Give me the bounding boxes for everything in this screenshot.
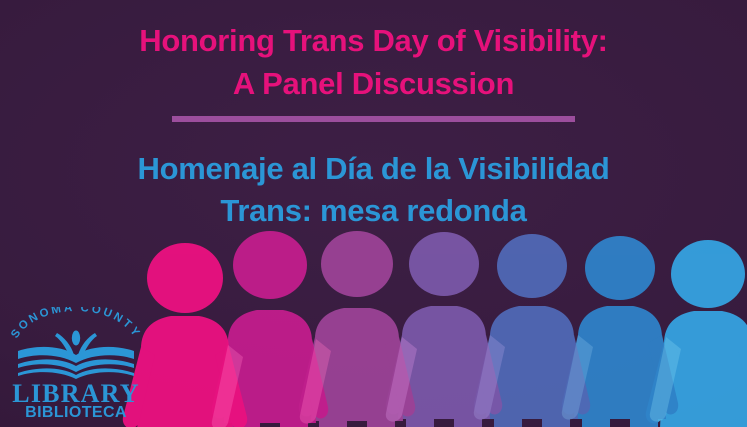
title-divider-rule: [172, 116, 575, 122]
divider-row: [0, 116, 747, 134]
title-spanish-line-2: Trans: mesa redonda: [0, 190, 747, 233]
title-english-line-2: A Panel Discussion: [0, 63, 747, 106]
poster-text-block: Honoring Trans Day of Visibility: A Pane…: [0, 0, 747, 233]
sonoma-county-library-logo: SONOMA COUNTY LIBRARY BIBLIOTECA: [6, 307, 146, 419]
title-english-line-1: Honoring Trans Day of Visibility:: [0, 20, 747, 63]
poster-title-spanish: Homenaje al Día de la Visibilidad Trans:…: [0, 134, 747, 234]
poster-canvas: Honoring Trans Day of Visibility: A Pane…: [0, 0, 747, 427]
logo-open-book-icon: [18, 347, 134, 379]
logo-biblioteca-text: BIBLIOTECA: [25, 404, 127, 419]
title-spanish-line-1: Homenaje al Día de la Visibilidad: [0, 148, 747, 191]
poster-title-english: Honoring Trans Day of Visibility: A Pane…: [0, 0, 747, 106]
